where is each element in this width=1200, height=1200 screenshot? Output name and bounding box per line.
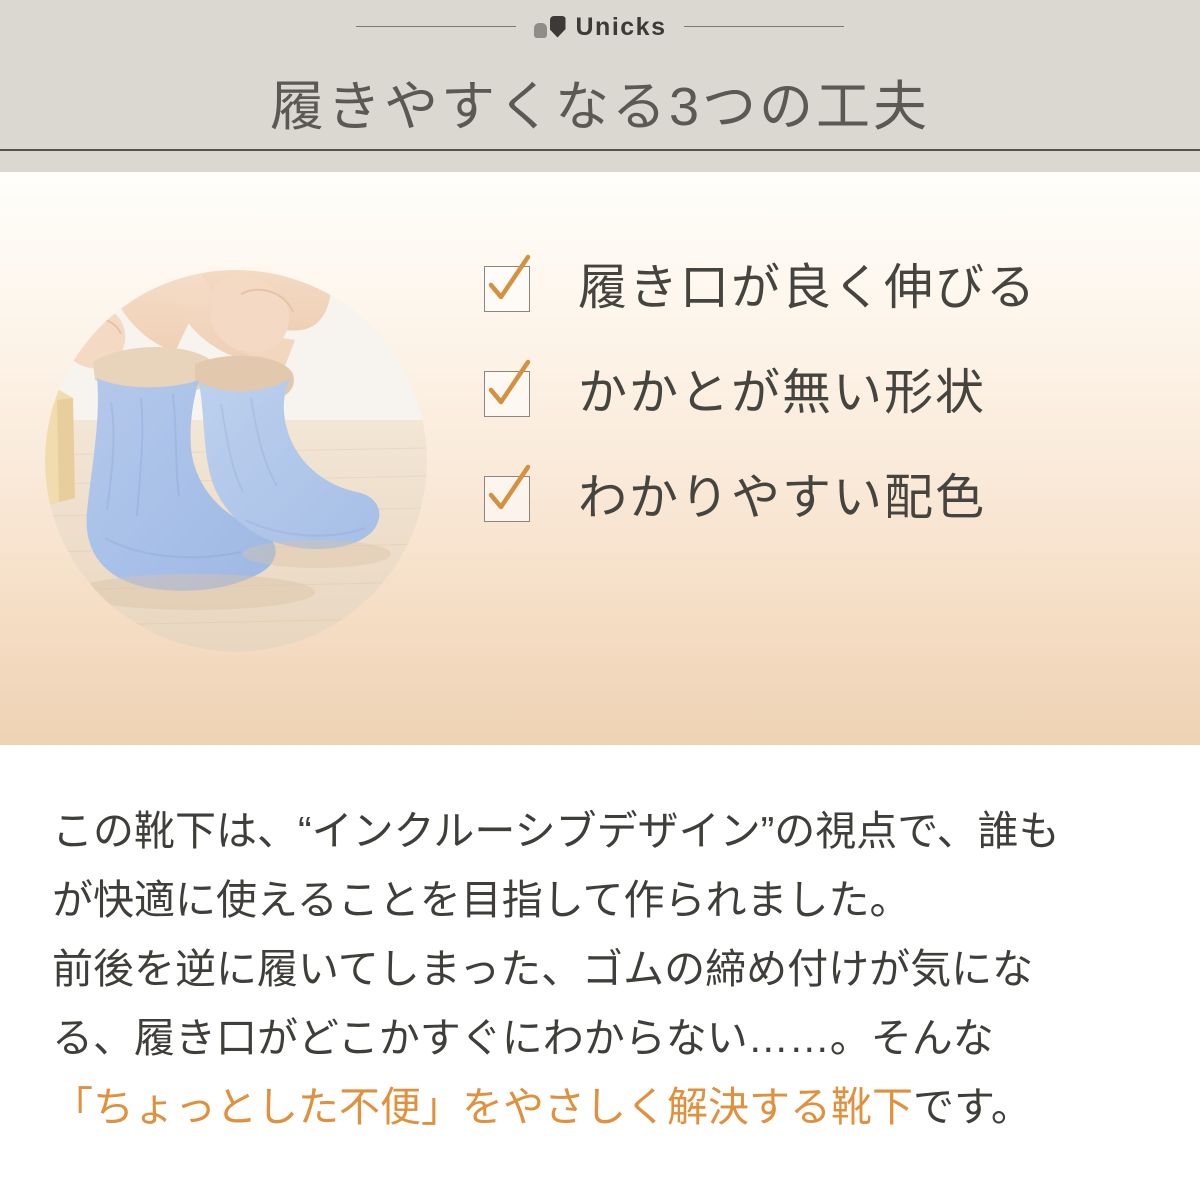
feature-label-1: 履き口が良く伸びる (578, 264, 1037, 313)
description-line-2: が快適に使えることを目指して作られました。 (52, 866, 1148, 935)
feature-item-1[interactable]: 履き口が良く伸びる (484, 264, 1037, 313)
sock-mark-large-icon (550, 16, 566, 38)
checkbox-3[interactable] (484, 476, 530, 522)
description-line-5: 「ちょっとした不便」をやさしく解決する靴下です。 (52, 1073, 1148, 1142)
header-rule-left (356, 26, 516, 27)
description-line-3: 前後を逆に履いてしまった、ゴムの締め付けが気にな (52, 935, 1148, 1004)
description-line-4: る、履き口がどこかすぐにわからない……。そんな (52, 1004, 1148, 1073)
feature-check-list: 履き口が良く伸びる かかとが無い形状 わかりやすい配色 (484, 264, 1037, 523)
feature-item-2[interactable]: かかとが無い形状 (484, 369, 1037, 418)
brand-logo-row: Unicks (0, 0, 1200, 52)
description-accent-text: 「ちょっとした不便」をやさしく解決する靴下 (52, 1084, 913, 1130)
checkbox-2[interactable] (484, 371, 530, 417)
description-block: この靴下は、“インクルーシブデザイン”の視点で、誰も が快適に使えることを目指し… (0, 745, 1200, 1142)
brand-logo: Unicks (534, 15, 667, 40)
logo-marks (534, 16, 566, 38)
page-title: 履きやすくなる3つの工夫 (0, 52, 1200, 150)
feature-item-3[interactable]: わかりやすい配色 (484, 474, 1037, 523)
header-rule-right (684, 26, 844, 27)
brand-name: Unicks (576, 15, 667, 40)
hero-panel: 履き口が良く伸びる かかとが無い形状 わかりやすい配色 (0, 172, 1200, 745)
product-photo (45, 270, 427, 652)
description-line-1: この靴下は、“インクルーシブデザイン”の視点で、誰も (52, 797, 1148, 866)
description-plain-text: です。 (913, 1084, 1032, 1130)
header-footer-band (0, 151, 1200, 172)
checkbox-1[interactable] (484, 266, 530, 312)
feature-label-2: かかとが無い形状 (578, 369, 986, 418)
sock-mark-small-icon (534, 23, 547, 38)
page-header: Unicks 履きやすくなる3つの工夫 (0, 0, 1200, 172)
feature-label-3: わかりやすい配色 (578, 474, 986, 523)
